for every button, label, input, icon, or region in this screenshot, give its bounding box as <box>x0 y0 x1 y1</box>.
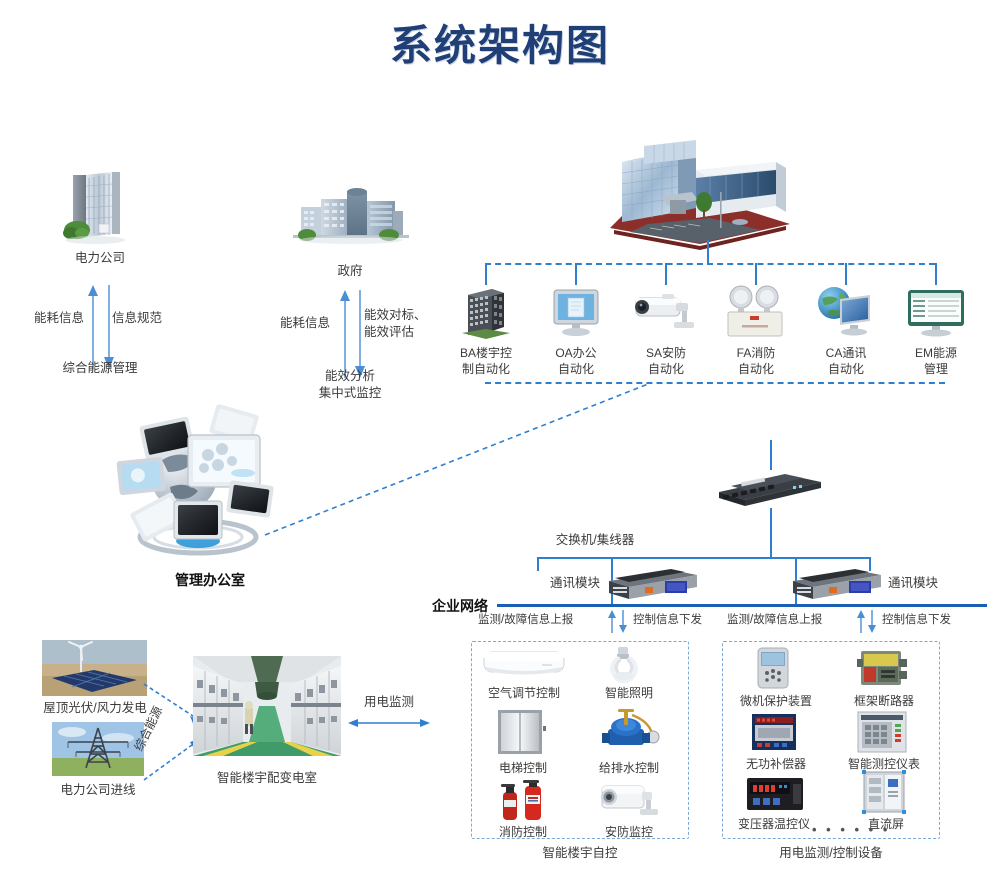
water-valve-icon <box>596 703 662 755</box>
building-to-bus-line <box>707 240 709 264</box>
government-down-label: 能效对标、 能效评估 <box>364 307 444 341</box>
government-label: 政府 <box>300 263 400 280</box>
em-energy-monitor-icon <box>905 288 967 340</box>
utility-arrows <box>75 283 135 371</box>
smart-building-icon <box>600 140 800 255</box>
module-bus-line <box>537 557 870 559</box>
ba-item-label-5: 安防监控 <box>588 824 670 840</box>
power-company-label: 电力公司 <box>40 250 160 267</box>
rooftop-pv-wind-icon <box>42 640 147 696</box>
power-monitoring-arrow-label: 用电监测 <box>344 694 434 711</box>
ba-item-label-1: 智能照明 <box>588 685 670 701</box>
system-label-em: EM能源 管理 <box>900 345 972 377</box>
module-right-label: 通讯模块 <box>888 575 968 592</box>
switch-downlink-line <box>770 508 772 558</box>
security-camera-icon <box>598 782 668 822</box>
government-up-label: 能耗信息 <box>268 315 330 332</box>
smart-meter-icon <box>856 710 908 754</box>
ba-item-label-4: 消防控制 <box>482 824 564 840</box>
integrated-energy-management-label: 综合能源管理 <box>20 360 180 377</box>
substation-room-icon <box>193 656 341 756</box>
module-left-label: 通讯模块 <box>520 575 600 592</box>
flow-down-label-right: 控制信息下发 <box>882 612 992 628</box>
ba-item-label-0: 空气调节控制 <box>478 685 570 701</box>
communication-module-icon <box>605 565 700 601</box>
flow-arrows-left <box>606 610 632 634</box>
system-label-ca: CA通讯 自动化 <box>810 345 882 377</box>
drop-line-3 <box>665 263 667 285</box>
management-office-screens-icon <box>112 405 297 565</box>
pm-item-label-2: 无功补偿器 <box>730 756 822 772</box>
elevator-icon <box>495 708 549 756</box>
government-building-icon <box>293 185 409 247</box>
fire-extinguisher-icon <box>495 780 555 822</box>
cfl-bulb-icon <box>598 645 650 683</box>
transformer-temp-controller-icon <box>745 776 805 812</box>
building-automation-caption: 智能楼宇自控 <box>487 845 673 862</box>
module-bus-left-end <box>537 557 539 571</box>
page-title: 系统架构图 <box>0 12 1000 73</box>
switch-uplink-line <box>770 440 772 470</box>
pm-item-label-1: 框架断路器 <box>838 693 930 709</box>
switch-label: 交换机/集线器 <box>530 532 660 549</box>
drop-line-4 <box>755 263 757 285</box>
drop-line-2 <box>575 263 577 285</box>
drop-line-5 <box>845 263 847 285</box>
office-to-bus-diagonal-line <box>260 380 660 540</box>
drop-line-6 <box>935 263 937 285</box>
dc-panel-icon <box>862 770 906 814</box>
ba-item-label-3: 给排水控制 <box>588 760 670 776</box>
air-circuit-breaker-icon <box>855 645 909 691</box>
system-bus-dashed-line <box>485 263 935 265</box>
utility-down-label: 信息规范 <box>112 310 192 327</box>
management-office-label: 管理办公室 <box>120 570 300 590</box>
flow-arrows-right <box>855 610 881 634</box>
ba-building-automation-icon <box>458 283 514 341</box>
flow-up-label-left: 监测/故障信息上报 <box>478 612 608 628</box>
oa-monitor-icon <box>548 288 604 340</box>
power-monitoring-caption: 用电监测/控制设备 <box>738 845 924 862</box>
pm-item-label-0: 微机保护装置 <box>730 693 822 709</box>
power-company-building-icon <box>55 170 145 245</box>
drop-line-1 <box>485 263 487 285</box>
network-switch-icon <box>715 466 825 510</box>
air-conditioner-icon <box>482 648 566 680</box>
utility-up-label: 能耗信息 <box>14 310 84 327</box>
system-label-sa: SA安防 自动化 <box>630 345 702 377</box>
system-label-oa: OA办公 自动化 <box>540 345 612 377</box>
protection-relay-icon <box>752 646 794 690</box>
system-label-fa: FA消防 自动化 <box>720 345 792 377</box>
sa-camera-icon <box>632 290 702 340</box>
power-monitoring-ellipsis: • • • • • • <box>812 822 890 837</box>
communication-module-icon <box>789 565 884 601</box>
reactive-compensator-icon <box>750 712 798 752</box>
fa-emergency-light-icon <box>722 285 788 341</box>
system-label-ba: BA楼宇控 制自动化 <box>445 345 527 377</box>
diagram-canvas: 系统架构图 <box>0 0 1000 889</box>
ba-item-label-2: 电梯控制 <box>482 760 564 776</box>
substation-label: 智能楼宇配变电室 <box>185 770 349 787</box>
pm-item-label-4: 变压器温控仪 <box>728 816 820 832</box>
enterprise-network-bar <box>497 604 987 607</box>
ca-globe-monitor-icon <box>812 285 878 341</box>
flow-up-label-right: 监测/故障信息上报 <box>727 612 857 628</box>
power-monitoring-bidirectional-arrow <box>348 716 430 730</box>
